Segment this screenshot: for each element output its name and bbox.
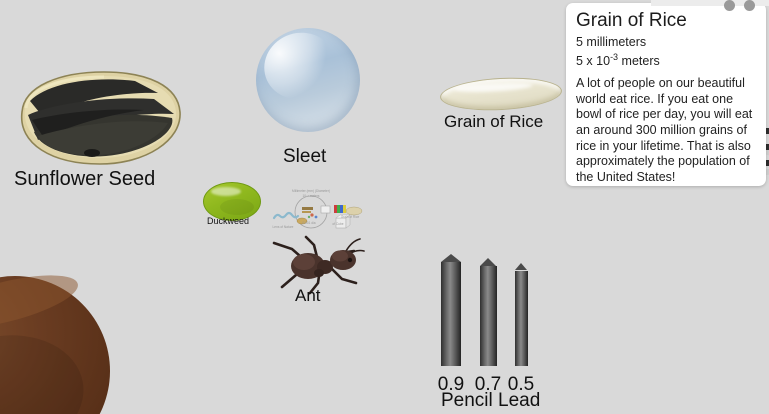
measure-sci-suffix: meters <box>618 54 660 68</box>
measure-sci-prefix: 5 x 10 <box>576 54 610 68</box>
info-panel-measure-metric: 5 millimeters <box>576 35 756 50</box>
thumbnail-rice-label: Grain of Rice <box>338 215 362 219</box>
window-dot-2-icon[interactable] <box>744 0 755 11</box>
pencil-lead-0-7-tip <box>480 258 496 266</box>
info-panel[interactable]: Grain of Rice 5 millimeters 5 x 10-3 met… <box>566 3 766 186</box>
scale-thumbnail-preview[interactable]: Millimeter (mm) (Diameter) 10⁻³ meters L… <box>266 188 364 233</box>
window-controls[interactable] <box>724 0 755 11</box>
window-dot-1-icon[interactable] <box>724 0 735 11</box>
thumbnail-exponent-label: 10⁻³ meters <box>283 194 339 198</box>
pencil-lead-0-9[interactable] <box>441 262 461 366</box>
grain-of-rice-label: Grain of Rice <box>444 112 543 132</box>
pencil-lead-0-9-tip <box>441 254 461 262</box>
thumbnail-lens-label: Lens of Nature <box>266 225 300 229</box>
sunflower-seed-object[interactable] <box>8 68 183 168</box>
scale-of-universe-canvas[interactable]: Glas Sunflower Seed Sleet Grain of Rice … <box>0 0 769 414</box>
pencil-lead-label: Pencil Lead <box>441 390 540 412</box>
pencil-lead-0-5[interactable] <box>515 271 528 366</box>
sleet-object[interactable] <box>256 28 360 132</box>
sleet-label: Sleet <box>283 146 326 168</box>
pencil-lead-0-5-tip <box>515 263 527 270</box>
grain-of-rice-object[interactable] <box>439 75 563 113</box>
info-panel-title: Grain of Rice <box>576 9 756 33</box>
sunflower-seed-label: Sunflower Seed <box>14 168 155 191</box>
info-panel-measure-scientific: 5 x 10-3 meters <box>576 50 756 69</box>
sunflower-seed-icon <box>8 68 183 168</box>
ant-label: Ant <box>295 286 321 306</box>
thumbnail-mid-label: 0.001 dia <box>294 221 324 225</box>
info-panel-description: A lot of people on our beautiful world e… <box>576 76 756 185</box>
pencil-lead-0-7[interactable] <box>480 266 497 366</box>
thumbnail-unit-label: Millimeter (mm) (Diameter) <box>283 189 339 193</box>
duckweed-label: Duckweed <box>207 216 249 226</box>
measure-sci-exponent: -3 <box>610 52 618 62</box>
brown-seed-object[interactable] <box>0 276 110 414</box>
thumbnail-cube-label: of Cube <box>328 222 348 226</box>
